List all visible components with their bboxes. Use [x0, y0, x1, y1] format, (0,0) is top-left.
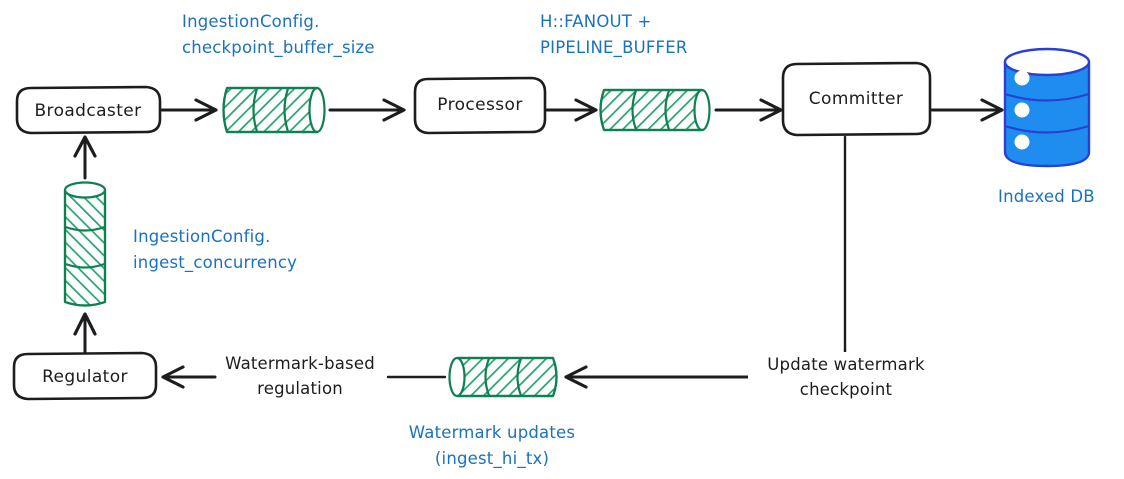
node-committer[interactable]: Committer — [783, 63, 930, 135]
pipeline-diagram: IngestionConfig. checkpoint_buffer_size … — [0, 0, 1124, 479]
node-processor-label: Processor — [437, 95, 522, 115]
annotation-ingest-concurrency-line1: IngestionConfig. — [133, 227, 271, 246]
annotation-checkpoint-buffer-line1: IngestionConfig. — [182, 12, 320, 31]
annotation-watermark-regulation-line2: regulation — [257, 379, 343, 398]
buffer-ingest-concurrency — [65, 183, 105, 306]
annotation-watermark-regulation: Watermark-based regulation — [225, 354, 375, 398]
buffer-checkpoint — [224, 88, 325, 132]
edge-checkpoint-buffer-to-processor — [330, 100, 404, 120]
edge-committer-to-watermark-buffer — [566, 137, 845, 387]
annotation-watermark-updates-line1: Watermark updates — [409, 423, 575, 442]
annotation-checkpoint-buffer: IngestionConfig. checkpoint_buffer_size — [182, 12, 375, 58]
edge-pipeline-buffer-to-committer — [716, 100, 781, 120]
node-processor[interactable]: Processor — [415, 78, 545, 133]
annotation-pipeline-buffer-line2: PIPELINE_BUFFER — [540, 38, 688, 58]
buffer-pipeline — [601, 90, 710, 130]
annotation-watermark-updates: Watermark updates (ingest_hi_tx) — [409, 423, 575, 469]
indexed-db-icon — [1005, 49, 1089, 166]
edge-committer-to-indexed-db — [932, 100, 1002, 120]
annotation-pipeline-buffer-line1: H::FANOUT + — [540, 12, 652, 31]
node-regulator-label: Regulator — [42, 367, 128, 387]
edge-processor-to-pipeline-buffer — [547, 100, 596, 120]
buffer-watermark — [450, 358, 557, 396]
annotation-update-watermark-line1: Update watermark — [767, 355, 925, 374]
annotation-watermark-regulation-line1: Watermark-based — [225, 354, 375, 373]
edge-regulator-to-ingest-buffer — [75, 314, 95, 352]
node-broadcaster-label: Broadcaster — [34, 101, 141, 121]
annotation-pipeline-buffer: H::FANOUT + PIPELINE_BUFFER — [540, 12, 688, 58]
edge-broadcaster-to-checkpoint-buffer — [162, 100, 216, 120]
annotation-ingest-concurrency-line2: ingest_concurrency — [133, 253, 297, 273]
annotation-ingest-concurrency: IngestionConfig. ingest_concurrency — [133, 227, 297, 273]
node-regulator[interactable]: Regulator — [14, 353, 156, 399]
annotation-update-watermark: Update watermark checkpoint — [748, 352, 944, 408]
annotation-checkpoint-buffer-line2: checkpoint_buffer_size — [182, 38, 375, 58]
edge-ingest-buffer-to-broadcaster — [75, 137, 95, 178]
indexed-db-label: Indexed DB — [998, 187, 1095, 206]
node-broadcaster[interactable]: Broadcaster — [17, 87, 160, 133]
diagram-canvas: IngestionConfig. checkpoint_buffer_size … — [0, 0, 1124, 479]
annotation-watermark-updates-line2: (ingest_hi_tx) — [435, 449, 549, 469]
annotation-update-watermark-line2: checkpoint — [800, 380, 893, 399]
node-committer-label: Committer — [809, 89, 904, 109]
